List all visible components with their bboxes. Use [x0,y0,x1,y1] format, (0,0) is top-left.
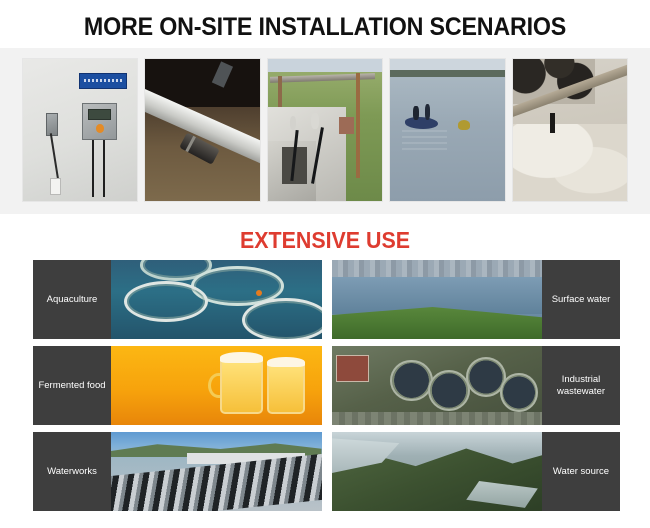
page-root: MORE ON-SITE INSTALLATION SCENARIOS [0,0,650,511]
use-case-label-line1: Industrial [562,374,601,385]
photo-aeration-basin-foam[interactable] [512,58,628,202]
probe-tip [50,178,60,195]
chinese-sign [79,73,127,89]
inflatable-boat [405,117,438,128]
grid-row: Aquaculture Surface water [33,260,620,339]
use-case-label: Surface water [542,260,620,339]
hanging-sensor [550,113,555,133]
extensive-use-grid: Aquaculture Surface water [0,260,650,511]
use-case-label: Industrial wastewater [542,346,620,425]
photo-wall-mounted-controller[interactable] [22,58,138,202]
photo-boat-on-lake-buoy[interactable] [389,58,505,202]
channel-probe-right [311,113,319,129]
use-case-label: Fermented food [33,346,111,425]
photo-pipe-outfall-sensor[interactable] [144,58,260,202]
operator-figure-2 [425,104,431,120]
operator-figure-1 [413,106,419,120]
use-case-industrial-wastewater[interactable]: Industrial wastewater [332,346,621,425]
photo-filter-basins [111,432,322,511]
use-case-label: Water source [542,432,620,511]
controller-display [88,109,111,120]
photo-beer-mugs [111,346,322,425]
use-case-label: Waterworks [33,432,111,511]
wall-sensor-bracket [46,113,59,136]
use-case-aquaculture[interactable]: Aquaculture [33,260,322,339]
installation-photo-strip [0,48,650,214]
use-case-label-line2: wastewater [557,386,605,397]
monitoring-buoy [458,120,471,130]
grid-row: Waterworks Water source [33,432,620,511]
photo-fish-net-pens [111,260,322,339]
foam-surface [513,124,627,201]
use-case-water-source[interactable]: Water source [332,432,621,511]
use-case-waterworks[interactable]: Waterworks [33,432,322,511]
controller-cable-left [92,140,94,197]
use-case-fermented-food[interactable]: Fermented food [33,346,322,425]
grid-row: Fermented food [33,346,620,425]
page-title: MORE ON-SITE INSTALLATION SCENARIOS [23,0,628,48]
channel-probe-left [290,116,297,130]
controller-cable-right [103,140,105,197]
extensive-use-title: EXTENSIVE USE [23,214,628,260]
photo-aerial-clarifiers [332,346,543,425]
photo-concrete-channel-sensors[interactable] [267,58,383,202]
photo-river-and-city [332,260,543,339]
use-case-surface-water[interactable]: Surface water [332,260,621,339]
photo-reservoir-valley [332,432,543,511]
use-case-label: Aquaculture [33,260,111,339]
